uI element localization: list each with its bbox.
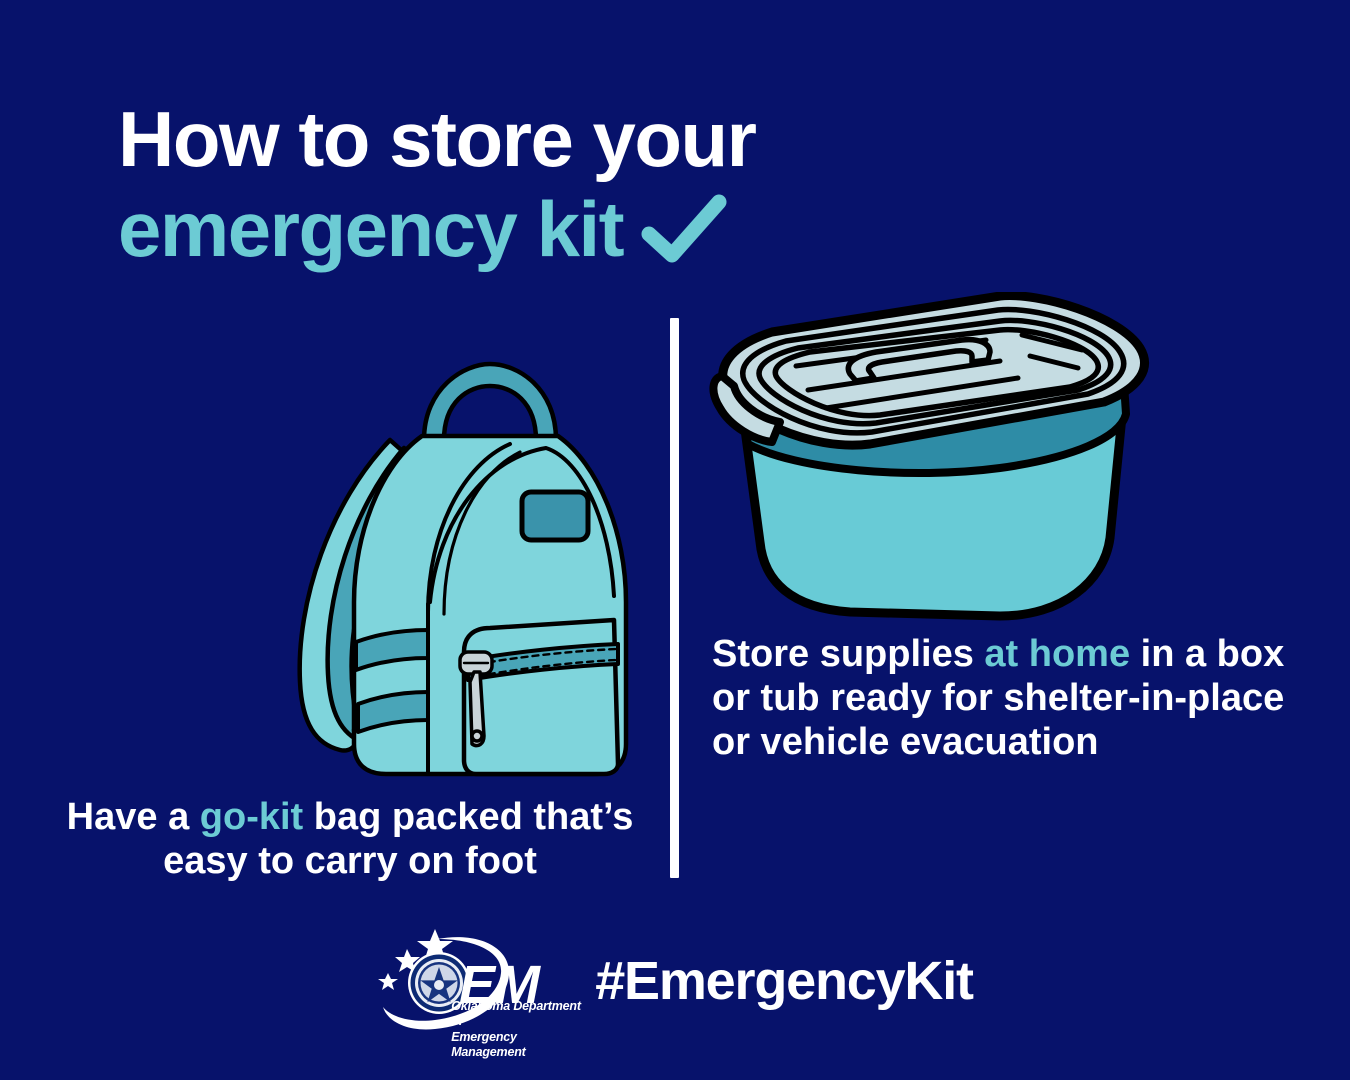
- right-caption-highlight: at home: [984, 633, 1130, 675]
- headline-block: How to store your emergency kit: [118, 100, 1218, 269]
- oem-seal-logo: EM Oklahoma Department of Emergency Mana…: [377, 925, 587, 1043]
- right-caption: Store supplies at home in a box or tub r…: [712, 632, 1292, 764]
- left-caption-part1: Have a: [67, 796, 200, 838]
- storage-tub-illustration: [700, 292, 1170, 632]
- left-caption-highlight: go-kit: [200, 796, 303, 838]
- right-caption-part1: Store supplies: [712, 633, 984, 675]
- headline-line-2-text: emergency kit: [118, 190, 623, 270]
- hashtag-label: #EmergencyKit: [595, 950, 973, 1012]
- headline-line-2: emergency kit: [118, 190, 1218, 270]
- left-caption: Have a go-kit bag packed that’s easy to …: [40, 795, 660, 883]
- poster-canvas: How to store your emergency kit: [0, 0, 1350, 1080]
- headline-line-1: How to store your: [118, 100, 1218, 180]
- backpack-illustration: [278, 352, 678, 782]
- logo-subtext: Oklahoma Department of Emergency Managem…: [451, 999, 591, 1060]
- checkmark-icon: [641, 194, 727, 264]
- footer-logo-block: EM Oklahoma Department of Emergency Mana…: [0, 925, 1350, 1043]
